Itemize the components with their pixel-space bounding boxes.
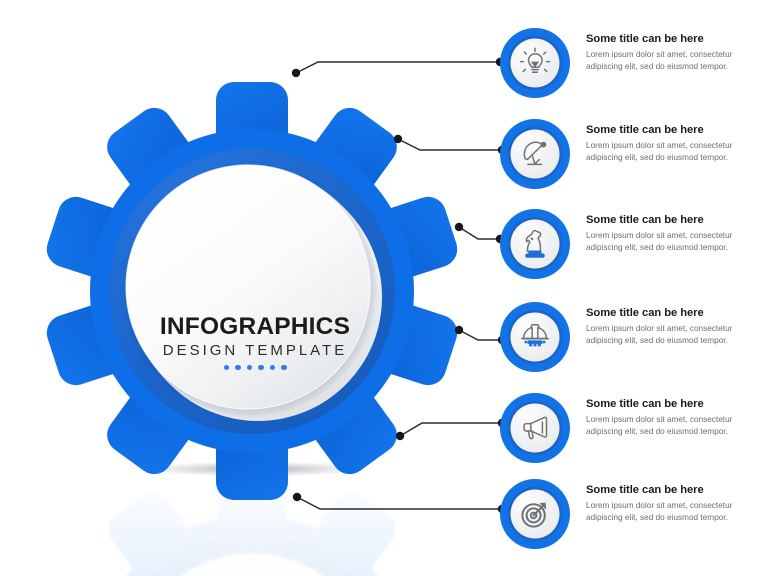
info-text-3: Some title can be here Lorem ipsum dolor…	[586, 214, 758, 255]
info-body-1: Lorem ipsum dolor sit amet, consectetur …	[586, 49, 758, 73]
info-text-5: Some title can be here Lorem ipsum dolor…	[586, 398, 758, 439]
info-text-1: Some title can be here Lorem ipsum dolor…	[586, 33, 758, 74]
info-title-1: Some title can be here	[586, 33, 758, 45]
info-item-5[interactable]: Some title can be here Lorem ipsum dolor…	[498, 391, 760, 477]
info-title-3: Some title can be here	[586, 214, 758, 226]
info-title-4: Some title can be here	[586, 307, 758, 319]
icon-badge-2[interactable]	[498, 117, 572, 191]
icon-badge-4[interactable]	[498, 300, 572, 374]
info-text-4: Some title can be here Lorem ipsum dolor…	[586, 307, 758, 348]
central-gear: INFOGRAPHICS DESIGN TEMPLATE	[36, 82, 468, 500]
info-title-5: Some title can be here	[586, 398, 758, 410]
info-body-2: Lorem ipsum dolor sit amet, consectetur …	[586, 140, 758, 164]
infographic-canvas: INFOGRAPHICS DESIGN TEMPLATE	[0, 0, 768, 576]
info-body-5: Lorem ipsum dolor sit amet, consectetur …	[586, 414, 758, 438]
info-text-6: Some title can be here Lorem ipsum dolor…	[586, 484, 758, 525]
info-body-3: Lorem ipsum dolor sit amet, consectetur …	[586, 230, 758, 254]
icon-badge-3[interactable]	[498, 207, 572, 281]
info-title-6: Some title can be here	[586, 484, 758, 496]
info-body-6: Lorem ipsum dolor sit amet, consectetur …	[586, 500, 758, 524]
info-item-1[interactable]: Some title can be here Lorem ipsum dolor…	[498, 26, 760, 112]
icon-badge-6[interactable]	[498, 477, 572, 551]
icon-badge-5[interactable]	[498, 391, 572, 465]
info-item-3[interactable]: Some title can be here Lorem ipsum dolor…	[498, 207, 760, 293]
info-item-6[interactable]: Some title can be here Lorem ipsum dolor…	[498, 477, 760, 563]
info-item-4[interactable]: Some title can be here Lorem ipsum dolor…	[498, 300, 760, 386]
icon-badge-1[interactable]	[498, 26, 572, 100]
info-text-2: Some title can be here Lorem ipsum dolor…	[586, 124, 758, 165]
info-item-2[interactable]: Some title can be here Lorem ipsum dolor…	[498, 117, 760, 203]
info-body-4: Lorem ipsum dolor sit amet, consectetur …	[586, 323, 758, 347]
gear-disc-front	[126, 165, 370, 409]
info-title-2: Some title can be here	[586, 124, 758, 136]
